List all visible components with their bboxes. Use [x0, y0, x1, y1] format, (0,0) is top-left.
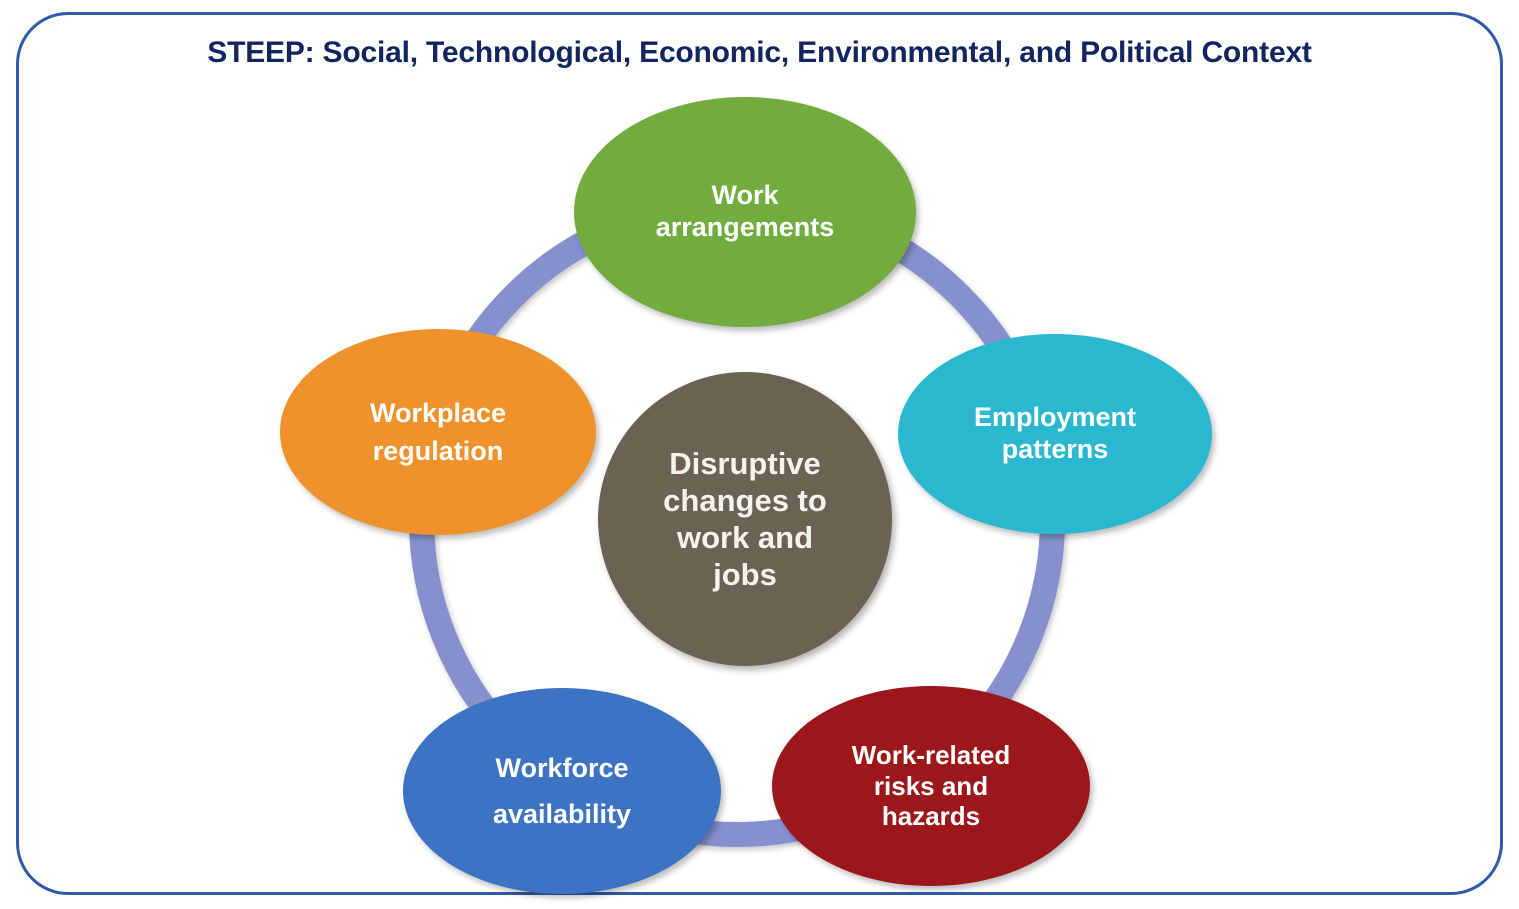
- node-work-related-risks-and-hazards[interactable]: Work-relatedrisks andhazards: [772, 686, 1090, 886]
- page-title: STEEP: Social, Technological, Economic, …: [0, 36, 1519, 70]
- node-workforce-availability[interactable]: Workforceavailability: [403, 688, 721, 894]
- node-workplace-regulation-label: Workplaceregulation: [360, 394, 516, 471]
- node-employment-patterns[interactable]: Employmentpatterns: [898, 334, 1212, 534]
- center-node-label: Disruptivechanges towork andjobs: [645, 445, 845, 594]
- node-work-arrangements[interactable]: Workarrangements: [574, 97, 916, 327]
- node-employment-patterns-label: Employmentpatterns: [964, 402, 1146, 466]
- node-workplace-regulation[interactable]: Workplaceregulation: [280, 329, 596, 535]
- diagram-canvas: STEEP: Social, Technological, Economic, …: [0, 0, 1519, 909]
- center-node-disruptive-changes[interactable]: Disruptivechanges towork andjobs: [598, 372, 892, 666]
- node-work-arrangements-label: Workarrangements: [646, 180, 845, 244]
- node-work-related-risks-and-hazards-label: Work-relatedrisks andhazards: [842, 740, 1020, 832]
- node-workforce-availability-label: Workforceavailability: [483, 745, 641, 838]
